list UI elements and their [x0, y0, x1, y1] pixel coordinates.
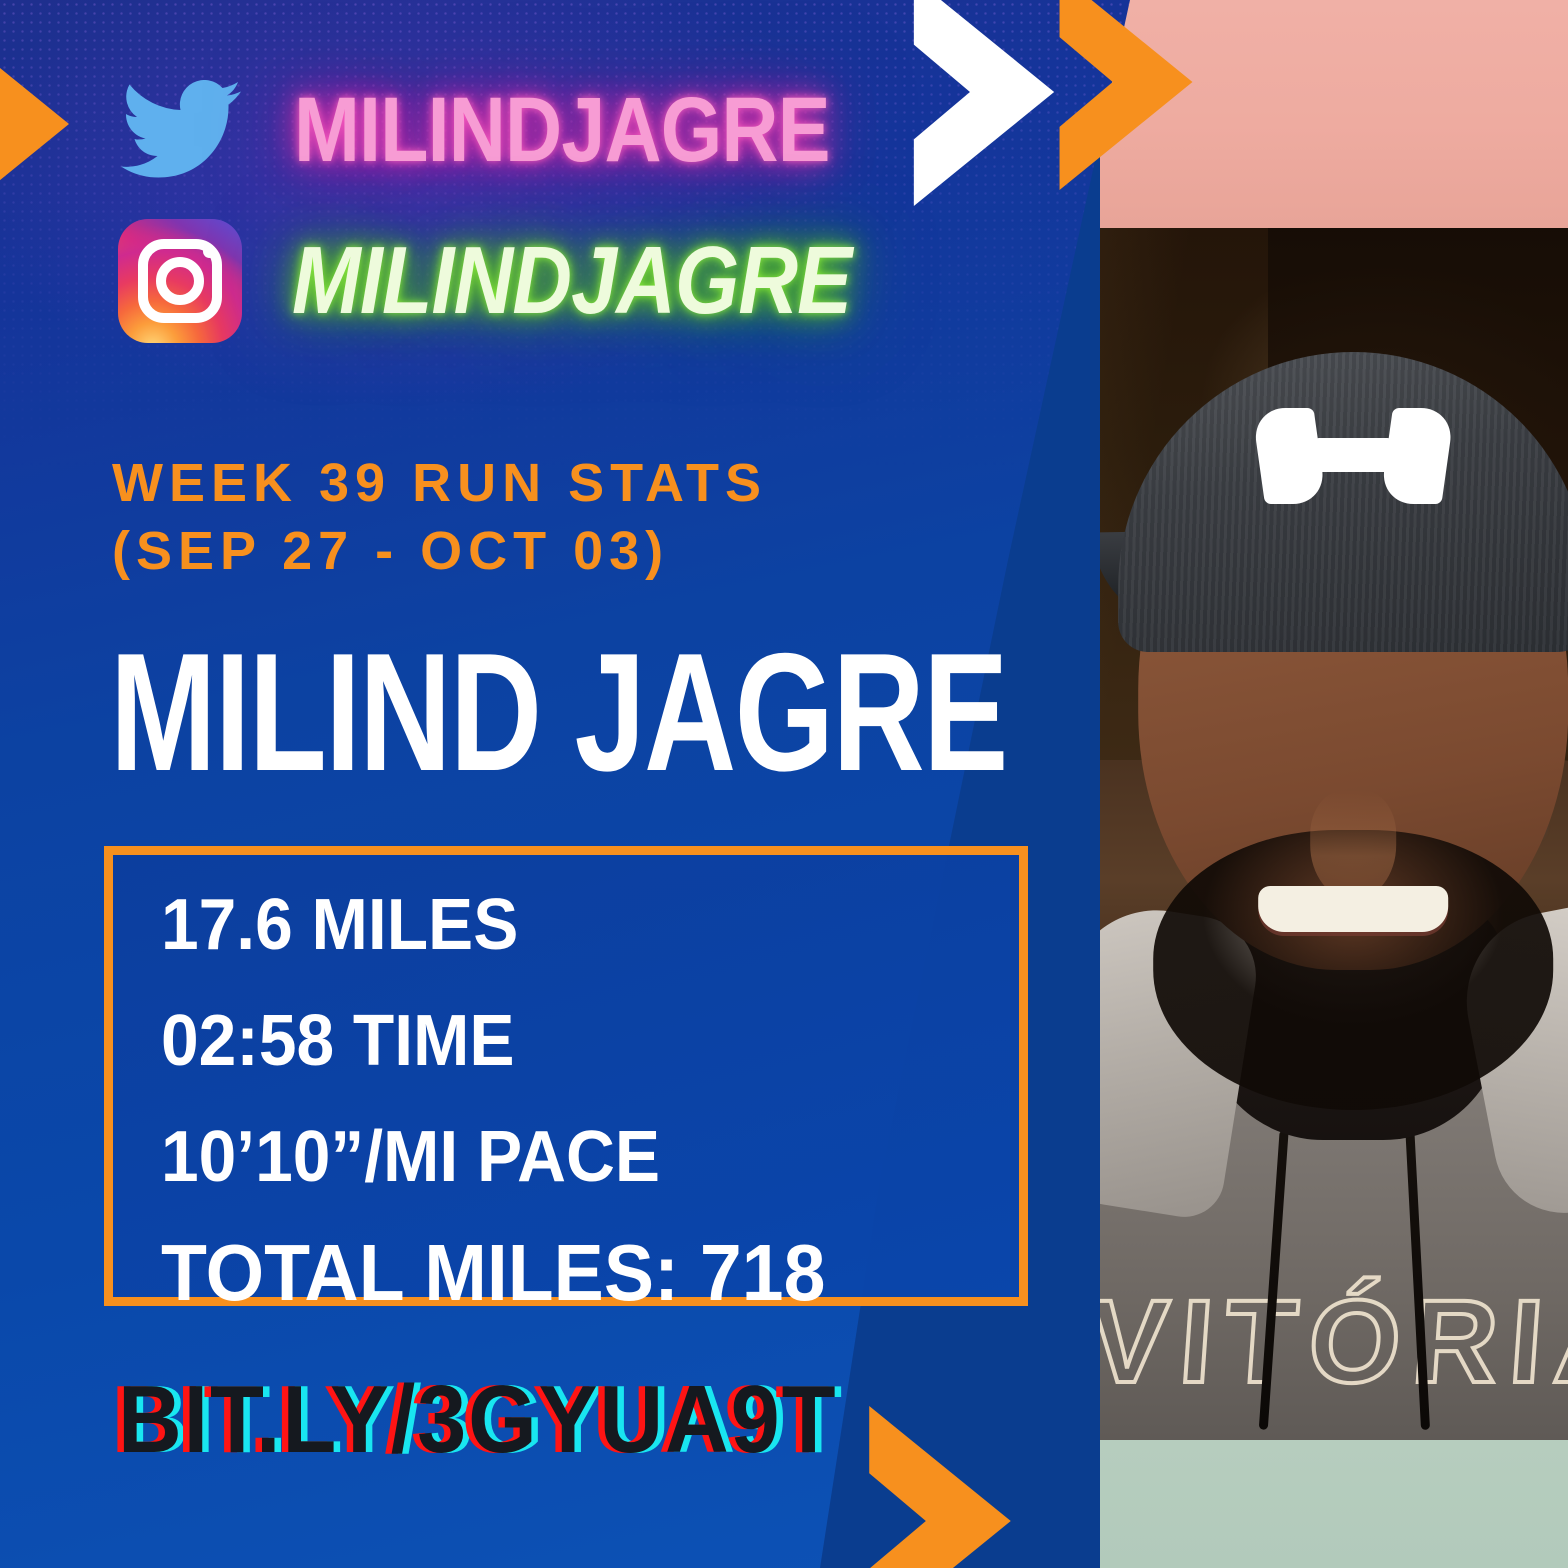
twitter-handle-text: MILINDJAGRE: [294, 84, 830, 176]
photo-subject: VITÓRIA: [1100, 260, 1568, 1440]
photo-bottom-band: [1100, 1440, 1568, 1568]
stat-time: 02:58 TIME: [161, 1005, 968, 1077]
chevron-right-icon-top-orange: [1036, 0, 1216, 190]
baseball-cap: [1118, 352, 1568, 652]
stat-distance: 17.6 MILES: [161, 889, 968, 961]
week-heading-line2: (SEP 27 - OCT 03): [112, 518, 767, 586]
week-heading-line1: WEEK 39 RUN STATS: [112, 453, 767, 513]
social-handles: MILINDJAGRE MILINDJAGRE: [118, 62, 938, 356]
nose: [1310, 790, 1396, 900]
run-stats-box: 17.6 MILES 02:58 TIME 10’10”/MI PACE TOT…: [104, 846, 1028, 1306]
stat-pace: 10’10”/MI PACE: [161, 1121, 968, 1193]
chevron-right-icon-bottom: [840, 1406, 1040, 1568]
twitter-handle-row[interactable]: MILINDJAGRE: [118, 62, 938, 198]
stat-total-miles: TOTAL MILES: 718: [161, 1233, 968, 1313]
instagram-handle-text: MILINDJAGRE: [292, 233, 851, 329]
twitter-bird-icon: [118, 70, 244, 190]
smile: [1258, 886, 1448, 932]
athlete-photo: VITÓRIA: [1100, 0, 1568, 1568]
athlete-name: MILIND JAGRE: [110, 628, 1007, 796]
hoodie-text: VITÓRIA: [1100, 1274, 1568, 1414]
instagram-icon: [118, 219, 242, 343]
chevron-right-icon-left: [0, 26, 84, 222]
instagram-handle-row[interactable]: MILINDJAGRE: [118, 206, 938, 356]
under-armour-logo-icon: [1258, 408, 1448, 504]
short-link-url[interactable]: BIT.LY/3GYUA9T: [118, 1372, 837, 1468]
run-stats-poster: VITÓRIA: [0, 0, 1568, 1568]
week-heading: WEEK 39 RUN STATS (SEP 27 - OCT 03): [112, 450, 767, 585]
